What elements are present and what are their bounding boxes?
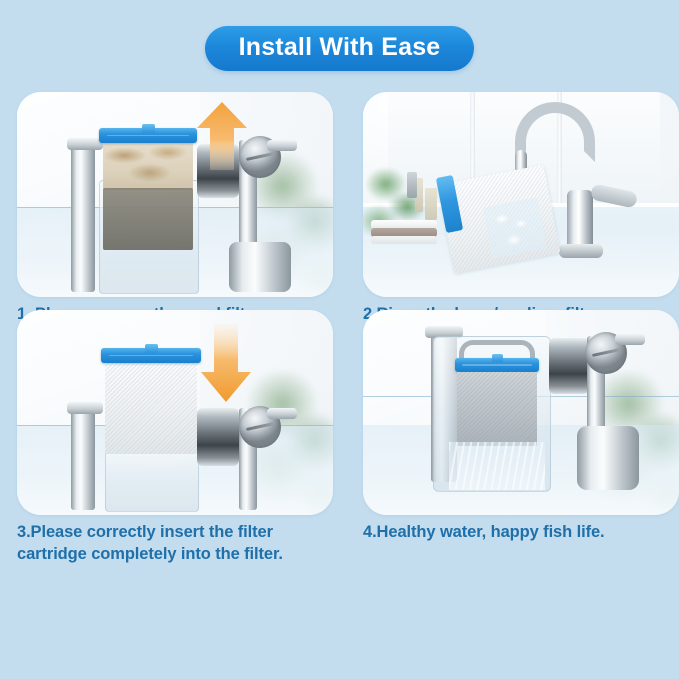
step-1: 1. Please remove the used filter cartrid… bbox=[17, 92, 350, 306]
water-droplets bbox=[483, 197, 548, 259]
towel-grey bbox=[371, 236, 437, 244]
cartridge-handle bbox=[455, 358, 539, 372]
outflow-cap bbox=[615, 334, 645, 345]
step-3-image bbox=[17, 310, 333, 515]
step-1-image bbox=[17, 92, 333, 297]
pump-motor bbox=[197, 408, 239, 466]
outflow-cap bbox=[267, 408, 297, 419]
outlet-nozzle bbox=[577, 426, 639, 490]
arrow-up-icon bbox=[195, 100, 249, 170]
installed-cartridge bbox=[457, 372, 537, 446]
outlet-nozzle bbox=[229, 242, 291, 292]
step-4-caption: 4.Healthy water, happy fish life. bbox=[363, 522, 673, 544]
sludge-layer bbox=[103, 188, 193, 250]
cartridge-handle bbox=[99, 128, 197, 143]
intake-tube bbox=[71, 142, 95, 292]
step-3-caption: 3.Please correctly insert the filter car… bbox=[17, 522, 327, 566]
intake-tube-cap bbox=[67, 138, 103, 150]
intake-tube-cap bbox=[67, 402, 103, 414]
page-title: Install With Ease bbox=[239, 35, 441, 60]
faucet-base bbox=[559, 244, 603, 258]
steps-grid: 1. Please remove the used filter cartrid… bbox=[0, 92, 679, 672]
arrow-down-icon bbox=[199, 324, 253, 404]
step-3: 3.Please correctly insert the filter car… bbox=[17, 310, 350, 524]
filter-housing bbox=[105, 450, 199, 512]
pump-motor bbox=[549, 338, 589, 394]
infographic-page: Install With Ease bbox=[0, 0, 679, 679]
intake-tube bbox=[71, 406, 95, 510]
clean-cartridge bbox=[105, 362, 197, 454]
outflow-cap bbox=[267, 140, 297, 151]
title-pill: Install With Ease bbox=[205, 26, 475, 71]
header: Install With Ease bbox=[0, 26, 679, 71]
cartridge-handle bbox=[101, 348, 201, 363]
step-4-image bbox=[363, 310, 679, 515]
step-2-image bbox=[363, 92, 679, 297]
used-cartridge bbox=[103, 142, 193, 190]
step-4: 4.Healthy water, happy fish life. bbox=[363, 310, 679, 524]
falling-water bbox=[449, 442, 545, 490]
dispenser-icon bbox=[407, 172, 417, 198]
step-2: 2.Rinse the large/medium filter cartridg… bbox=[363, 92, 679, 306]
bottle-medium bbox=[425, 188, 437, 220]
